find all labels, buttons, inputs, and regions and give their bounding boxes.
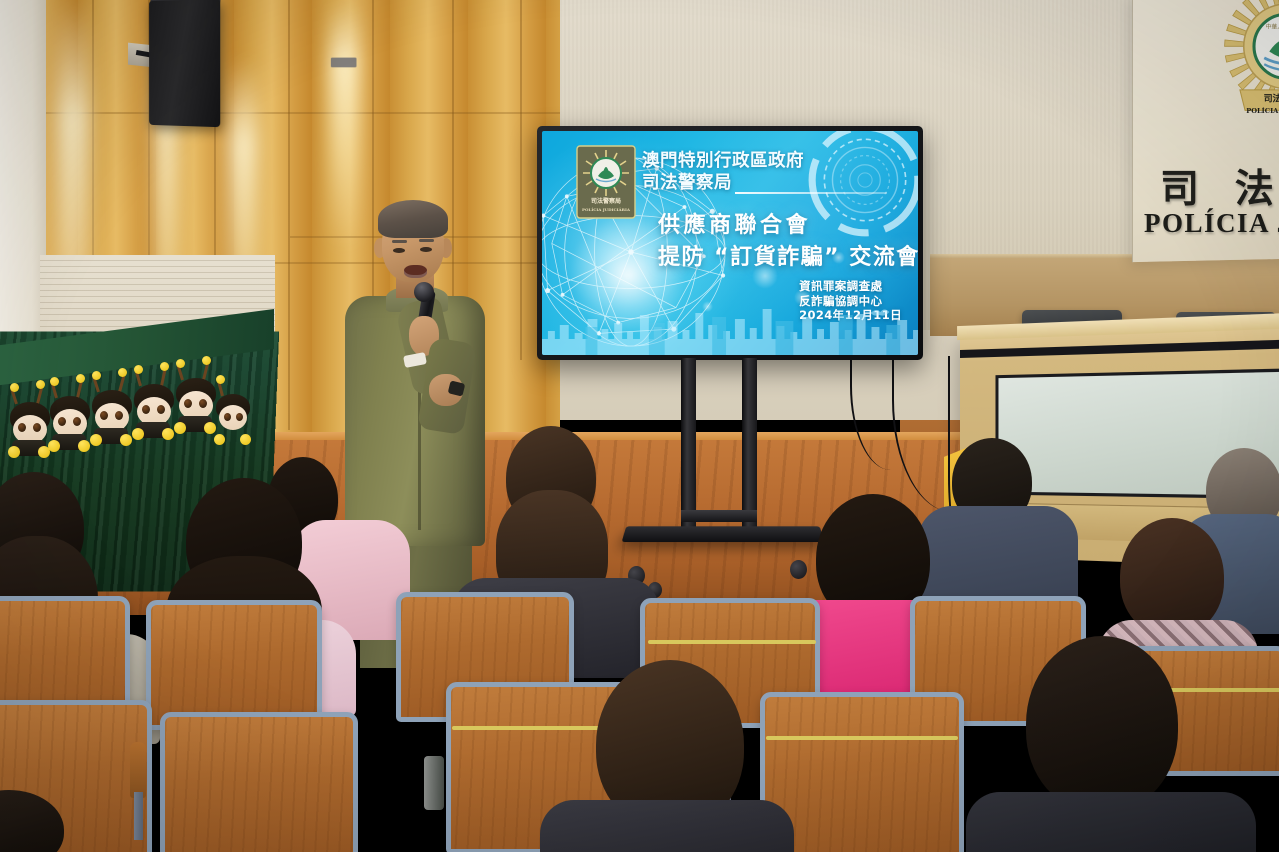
svg-text:司法警察局: 司法警察局 (1264, 92, 1279, 104)
macao-sar-police-crest-icon: 中華人民共和國 司法警察局 POLÍCIA JUDICIÁRIA (1222, 0, 1279, 118)
dais-shadow-band (960, 339, 1279, 358)
water-bottle (424, 756, 444, 810)
presentation-display: 司法警察局 POLÍCIA JUDICIÁRIA 澳門特別行政區政府 司法警察局… (537, 126, 923, 360)
seat-armrest-post-2 (134, 792, 143, 840)
speaker-hair (378, 200, 448, 238)
tech-circle-ring-graphic (804, 131, 918, 241)
screen-title-line2: 提防 “訂貨詐騙” 交流會 (658, 239, 918, 271)
attendee-bottom-right-head (1026, 636, 1178, 812)
svg-text:司法警察局: 司法警察局 (591, 197, 621, 205)
photograph-scene: 中華人民共和國 司法警察局 POLÍCIA JUDICIÁRIA 司 法 警 P… (0, 0, 1279, 852)
wall-sign-portuguese: POLÍCIA JU (1144, 208, 1279, 239)
speaker-mouth-open (404, 265, 427, 278)
macao-judiciary-police-emblem-icon: 司法警察局 POLÍCIA JUDICIÁRIA (576, 145, 636, 219)
speaker-brand-logo (331, 58, 357, 68)
seat-row1-2[interactable] (160, 712, 358, 852)
svg-text:POLÍCIA JUDICIÁRIA: POLÍCIA JUDICIÁRIA (1246, 106, 1279, 115)
display-cart-base (622, 526, 825, 542)
attendee-center-bun-body (540, 800, 794, 852)
seat-armrest-2 (130, 742, 146, 798)
display-cart-crossbar (681, 510, 757, 522)
city-skyline-graphic (542, 299, 918, 355)
seat-row2-2[interactable] (146, 600, 322, 730)
wall-sign-chinese: 司 法 警 (1160, 158, 1279, 214)
screen-header-rule (735, 192, 887, 194)
svg-text:POLÍCIA JUDICIÁRIA: POLÍCIA JUDICIÁRIA (582, 207, 631, 212)
attendee-check-jacket-head (1120, 518, 1224, 636)
attendee-bottom-right-body (966, 792, 1256, 852)
display-screen: 司法警察局 POLÍCIA JUDICIÁRIA 澳門特別行政區政府 司法警察局… (542, 131, 918, 355)
screen-subtitle-line1: 資訊罪案調查處 (799, 279, 902, 294)
ceiling-loudspeaker (149, 0, 220, 127)
screen-title-line1: 供應商聯合會 (658, 207, 811, 239)
screen-header-line2: 司法警察局 (642, 169, 732, 194)
cart-caster-right (790, 560, 807, 579)
svg-text:中華人民共和國: 中華人民共和國 (1265, 22, 1279, 30)
